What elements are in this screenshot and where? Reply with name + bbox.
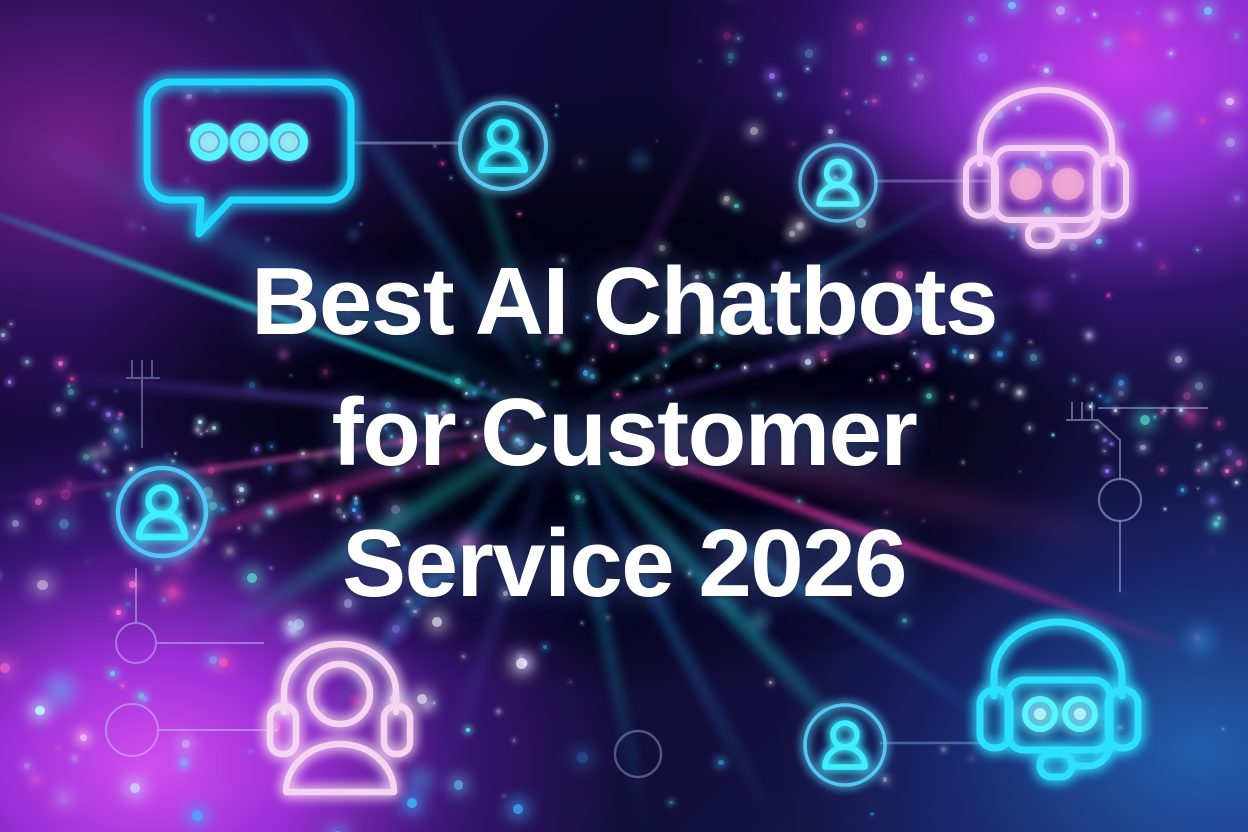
particle xyxy=(182,740,190,748)
particle xyxy=(352,508,357,513)
particle xyxy=(209,656,217,664)
particle xyxy=(1197,445,1200,448)
light-streak-layer xyxy=(0,0,1248,832)
particle xyxy=(103,442,107,446)
particle xyxy=(168,588,177,597)
particle xyxy=(1169,52,1173,56)
particle xyxy=(556,105,558,107)
bokeh-blob xyxy=(1176,616,1224,664)
light-streak xyxy=(559,414,1188,559)
particle xyxy=(1052,434,1054,436)
light-streak xyxy=(2,369,560,423)
particle xyxy=(1164,508,1166,510)
particle xyxy=(922,520,925,523)
particle xyxy=(247,573,257,583)
particle xyxy=(942,748,945,751)
particle xyxy=(527,356,529,358)
particle xyxy=(1163,409,1166,412)
particle xyxy=(582,499,585,502)
particle xyxy=(578,159,584,165)
particle xyxy=(888,451,891,454)
particle xyxy=(12,520,19,527)
particle xyxy=(688,572,691,575)
particle xyxy=(110,671,115,676)
particle xyxy=(856,218,866,228)
particle xyxy=(344,599,352,607)
particle xyxy=(1089,405,1092,408)
particle xyxy=(1136,11,1141,16)
particle xyxy=(590,374,595,379)
particle xyxy=(1069,243,1077,251)
particle xyxy=(336,495,341,500)
particle xyxy=(555,114,557,116)
light-streak xyxy=(434,419,562,801)
particle xyxy=(196,428,199,431)
light-streak xyxy=(558,419,652,832)
particle xyxy=(219,658,228,667)
particle xyxy=(115,430,126,441)
particle xyxy=(872,99,876,103)
user-avatar-icon xyxy=(455,98,551,194)
particle xyxy=(863,329,868,334)
particle xyxy=(1030,354,1036,360)
particle xyxy=(384,426,388,430)
particle xyxy=(129,467,133,471)
particle xyxy=(351,424,355,428)
particle xyxy=(178,513,182,517)
particle xyxy=(1154,416,1156,418)
particle xyxy=(424,412,428,416)
particle xyxy=(665,364,668,367)
particle xyxy=(1016,106,1021,111)
particle xyxy=(561,258,565,262)
particle xyxy=(35,706,45,716)
particle xyxy=(1110,443,1112,445)
bokeh-blob xyxy=(400,760,440,800)
particle xyxy=(117,417,120,420)
particle xyxy=(351,232,356,237)
particle xyxy=(249,750,252,753)
particle xyxy=(70,377,74,381)
particle xyxy=(106,492,111,497)
particle xyxy=(80,734,87,741)
particle xyxy=(1214,458,1216,460)
particle xyxy=(668,389,671,392)
particle xyxy=(655,374,661,380)
particle xyxy=(669,801,673,805)
particle xyxy=(1118,391,1124,397)
particle xyxy=(208,467,215,474)
particle xyxy=(1010,226,1017,233)
particle xyxy=(511,169,513,171)
particle xyxy=(1160,468,1164,472)
bokeh-blob xyxy=(34,664,86,716)
particle xyxy=(1087,333,1091,337)
particle xyxy=(769,364,773,368)
particle xyxy=(791,142,795,146)
particle xyxy=(978,53,988,63)
particle xyxy=(1217,421,1222,426)
particle xyxy=(952,349,957,354)
particle xyxy=(192,541,199,548)
particle xyxy=(130,222,136,228)
particle xyxy=(462,655,465,658)
particle-field xyxy=(0,0,1248,832)
particle xyxy=(1107,294,1109,296)
particle xyxy=(546,340,549,343)
particle xyxy=(187,497,189,499)
particle xyxy=(79,732,85,738)
particle xyxy=(518,213,520,215)
particle xyxy=(59,519,69,529)
light-streak xyxy=(558,63,743,421)
particle xyxy=(774,264,778,268)
particle xyxy=(193,525,197,529)
particle xyxy=(586,316,589,319)
particle xyxy=(659,245,665,251)
particle xyxy=(1159,263,1166,270)
particle xyxy=(249,382,255,388)
particle xyxy=(0,663,10,674)
particle xyxy=(662,347,667,352)
particle xyxy=(968,16,973,21)
particle xyxy=(450,177,452,179)
particle xyxy=(1066,215,1068,217)
particle xyxy=(186,94,191,99)
particle xyxy=(290,375,292,377)
particle xyxy=(238,486,240,488)
particle xyxy=(391,505,400,514)
particle xyxy=(1044,161,1053,170)
particle xyxy=(1107,178,1111,182)
support-agent-headset-icon xyxy=(258,628,422,804)
particle xyxy=(92,451,98,457)
particle xyxy=(24,763,30,769)
particle xyxy=(184,178,189,183)
background-center-vignette xyxy=(0,0,1248,832)
particle xyxy=(606,616,609,619)
particle xyxy=(288,621,293,626)
particle xyxy=(340,450,346,456)
particle xyxy=(913,341,915,343)
particle xyxy=(902,618,907,623)
particle xyxy=(37,580,48,591)
particle xyxy=(289,626,297,634)
particle xyxy=(724,196,729,201)
particle xyxy=(440,425,444,429)
particle xyxy=(1122,592,1124,594)
circuit-trace-right xyxy=(1040,378,1240,598)
particle xyxy=(817,273,823,279)
particle xyxy=(58,361,63,366)
particle xyxy=(806,300,811,305)
particle xyxy=(926,393,932,399)
title-line-2: for Customer xyxy=(0,367,1248,498)
particle xyxy=(962,461,964,463)
particle xyxy=(385,402,391,408)
particle xyxy=(837,332,840,335)
particle xyxy=(1072,378,1076,382)
particle xyxy=(252,142,253,143)
particle xyxy=(104,449,109,454)
particle xyxy=(143,697,147,701)
particle xyxy=(1108,643,1113,648)
particle xyxy=(73,757,77,761)
particle xyxy=(805,359,811,365)
particle xyxy=(987,321,992,326)
particle xyxy=(847,111,849,113)
particle xyxy=(323,369,328,374)
particle xyxy=(33,777,38,782)
particle xyxy=(916,73,924,81)
particle xyxy=(1204,7,1212,15)
particle xyxy=(883,777,888,782)
particle xyxy=(845,92,849,96)
particle xyxy=(204,539,207,542)
particle xyxy=(214,88,220,94)
particle xyxy=(289,664,296,671)
particle xyxy=(702,331,707,336)
particle xyxy=(492,389,496,393)
light-streak xyxy=(0,178,561,423)
particle xyxy=(1044,207,1051,214)
particle xyxy=(432,617,442,627)
particle xyxy=(729,61,731,63)
particle xyxy=(1096,239,1101,244)
particle xyxy=(695,275,699,279)
particle xyxy=(1235,481,1238,484)
particle xyxy=(709,272,711,274)
particle xyxy=(86,562,87,563)
particle xyxy=(454,780,464,790)
particle xyxy=(964,354,968,358)
particle xyxy=(441,162,444,165)
particle xyxy=(896,271,903,278)
particle xyxy=(151,730,154,733)
particle xyxy=(718,760,724,766)
particle xyxy=(1118,121,1126,129)
particle xyxy=(392,625,400,633)
light-streak xyxy=(267,0,563,422)
particle xyxy=(770,318,774,322)
particle xyxy=(921,355,927,361)
particle xyxy=(114,428,119,433)
particle xyxy=(8,380,12,384)
particle xyxy=(466,421,469,424)
particle xyxy=(227,548,232,553)
particle xyxy=(744,366,747,369)
particle xyxy=(210,17,212,19)
particle xyxy=(301,452,304,455)
particle xyxy=(1195,382,1203,390)
particle xyxy=(1114,409,1117,412)
particle xyxy=(126,602,130,606)
particle xyxy=(1197,469,1200,472)
particle xyxy=(209,502,217,510)
particle xyxy=(1115,150,1121,156)
particle xyxy=(1195,635,1200,640)
particle xyxy=(537,403,540,406)
particle xyxy=(908,378,910,380)
particle xyxy=(1211,549,1212,550)
particle xyxy=(1105,397,1111,403)
particle xyxy=(1137,242,1142,247)
particle xyxy=(1033,146,1037,150)
particle xyxy=(1131,34,1139,42)
light-streak xyxy=(559,418,1021,743)
particle xyxy=(138,693,144,699)
particle xyxy=(68,389,73,394)
particle xyxy=(583,370,589,376)
particle xyxy=(885,511,888,514)
particle xyxy=(672,280,676,284)
particle xyxy=(667,310,669,312)
particle xyxy=(1234,195,1240,201)
particle xyxy=(201,491,203,493)
particle xyxy=(543,645,547,649)
particle xyxy=(724,200,727,203)
light-streak xyxy=(0,115,563,425)
particle xyxy=(577,752,587,762)
particle xyxy=(719,330,725,336)
particle xyxy=(669,328,673,332)
particle xyxy=(1160,411,1164,415)
particle xyxy=(522,660,528,666)
particle xyxy=(1093,13,1096,16)
particle xyxy=(1234,33,1240,39)
particle xyxy=(200,433,202,435)
particle xyxy=(220,507,224,511)
particle xyxy=(1199,444,1201,446)
particle xyxy=(840,162,849,171)
particle xyxy=(1,333,6,338)
particle xyxy=(537,363,540,366)
particle xyxy=(1019,471,1020,472)
light-streak xyxy=(62,417,561,576)
particle xyxy=(870,379,872,381)
particle xyxy=(417,694,427,704)
particle xyxy=(751,402,756,407)
particle xyxy=(1118,380,1124,386)
particle xyxy=(172,460,174,462)
particle xyxy=(519,655,522,658)
particle xyxy=(1103,438,1107,442)
particle xyxy=(865,101,867,103)
particle xyxy=(1140,415,1150,425)
particle xyxy=(969,354,974,359)
particle xyxy=(697,358,702,363)
particle xyxy=(115,390,117,392)
particle xyxy=(481,434,483,436)
particle xyxy=(508,420,510,422)
particle xyxy=(406,600,410,604)
light-streak xyxy=(0,418,560,505)
particle xyxy=(354,698,359,703)
particle xyxy=(35,498,42,505)
particle xyxy=(1213,521,1219,527)
particle xyxy=(537,360,539,362)
particle xyxy=(805,49,814,58)
particle xyxy=(1202,464,1208,470)
particle xyxy=(856,23,863,30)
particle xyxy=(267,509,273,515)
particle xyxy=(564,344,569,349)
light-streak xyxy=(193,416,562,651)
particle xyxy=(181,760,187,766)
particle xyxy=(125,446,127,448)
particle xyxy=(1056,6,1065,15)
particle xyxy=(320,711,323,714)
particle xyxy=(737,274,741,278)
particle xyxy=(913,82,918,87)
particle xyxy=(255,447,259,451)
particle xyxy=(238,527,240,529)
particle xyxy=(796,222,804,230)
particle xyxy=(1205,463,1207,465)
particle xyxy=(116,610,122,616)
particle xyxy=(1020,163,1027,170)
particle xyxy=(963,197,968,202)
particle xyxy=(1071,274,1076,279)
particle xyxy=(1051,225,1057,231)
bokeh-blob xyxy=(1138,98,1182,142)
particle xyxy=(106,412,111,417)
particle xyxy=(1040,150,1046,156)
particle xyxy=(994,354,997,357)
connector-line-top-left xyxy=(352,138,472,148)
particle xyxy=(1225,469,1229,473)
particle xyxy=(497,710,500,713)
particle xyxy=(834,176,837,179)
particle xyxy=(513,804,523,814)
particle xyxy=(553,382,556,385)
particle xyxy=(57,746,60,749)
particle xyxy=(553,333,558,338)
particle xyxy=(881,375,885,379)
light-streak xyxy=(559,417,1219,663)
particle xyxy=(402,546,407,551)
particle xyxy=(806,68,809,71)
particle xyxy=(896,328,902,334)
particle xyxy=(56,407,61,412)
bokeh-blob xyxy=(1024,284,1056,316)
particle xyxy=(1090,387,1094,391)
particle xyxy=(281,352,285,356)
particle xyxy=(1226,138,1235,147)
particle xyxy=(1105,469,1109,473)
particle xyxy=(897,294,899,296)
particle xyxy=(581,622,583,624)
particle xyxy=(462,538,473,549)
particle xyxy=(474,435,477,438)
particle xyxy=(716,365,718,367)
particle xyxy=(1181,488,1185,492)
particle xyxy=(513,739,516,742)
particle xyxy=(188,128,191,131)
particle xyxy=(895,365,897,367)
circuit-node-center-bottom xyxy=(596,712,716,832)
particle xyxy=(434,145,436,147)
particle xyxy=(635,377,638,380)
particle xyxy=(1099,395,1101,397)
particle xyxy=(951,396,953,398)
particle xyxy=(1196,249,1199,252)
particle xyxy=(777,92,782,97)
particle xyxy=(212,426,216,430)
particle xyxy=(390,435,393,438)
particle xyxy=(162,598,166,602)
particle xyxy=(60,489,71,500)
